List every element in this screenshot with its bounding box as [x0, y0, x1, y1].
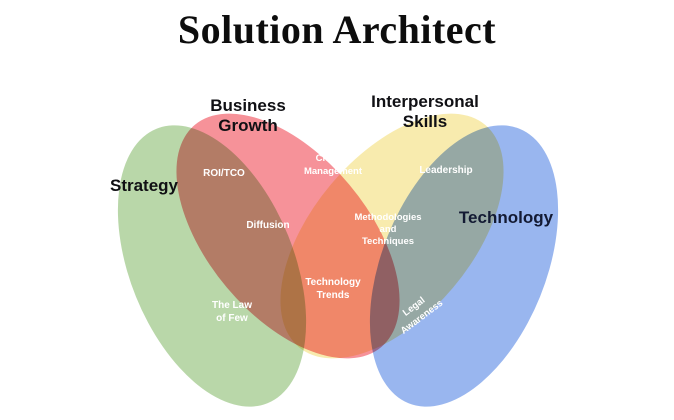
svg-text:Methodologies: Methodologies [354, 212, 421, 223]
svg-text:Trends: Trends [317, 290, 350, 301]
svg-text:Management: Management [304, 166, 363, 177]
svg-text:of Few: of Few [216, 313, 248, 324]
svg-text:and: and [380, 224, 397, 235]
set-label-strategy: Strategy [110, 176, 179, 195]
svg-text:Growth: Growth [218, 116, 278, 135]
set-label-business-growth: Business Growth [210, 96, 286, 135]
intersection-label-advisory-firms: Advisory Frims [310, 372, 353, 396]
intersection-label-roi-tco: ROI/TCO [203, 168, 245, 179]
set-label-technology: Technology [459, 208, 554, 227]
svg-text:Technology: Technology [305, 277, 361, 288]
intersection-label-leadership: Leadership [419, 165, 472, 176]
venn-diagram: Strategy Business Growth Interpersonal S… [0, 58, 674, 420]
intersection-label-diffusion: Diffusion [246, 220, 289, 231]
venn-ellipses [81, 74, 596, 420]
page-title: Solution Architect [0, 8, 674, 52]
svg-text:Skills: Skills [403, 112, 447, 131]
svg-text:Advisory: Advisory [310, 372, 353, 383]
svg-text:Change: Change [316, 153, 351, 164]
svg-text:The Law: The Law [212, 300, 252, 311]
svg-text:Techniques: Techniques [362, 236, 414, 247]
svg-text:Interpersonal: Interpersonal [371, 92, 479, 111]
svg-text:Business: Business [210, 96, 286, 115]
svg-text:Frims: Frims [317, 385, 345, 396]
